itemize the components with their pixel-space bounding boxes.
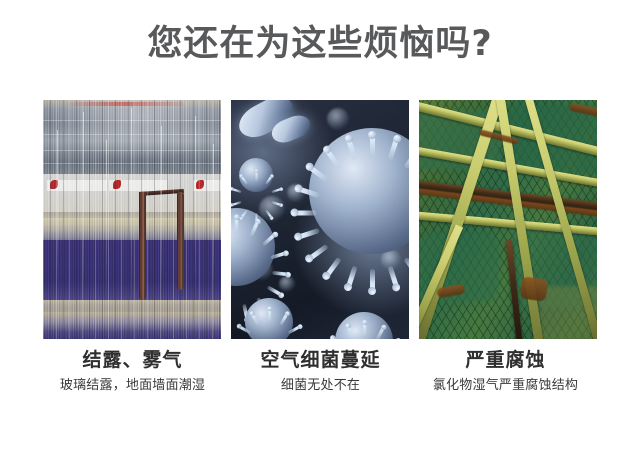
panel-bacteria bbox=[231, 100, 409, 339]
water-drip bbox=[161, 126, 162, 296]
caption-subtitle: 玻璃结露，地面墙面潮湿 bbox=[25, 377, 240, 394]
caption-title: 严重腐蚀 bbox=[398, 348, 613, 372]
water-drip bbox=[106, 140, 107, 300]
caption-title: 空气细菌蔓延 bbox=[213, 348, 428, 372]
photo-vignette bbox=[419, 100, 597, 339]
water-drip bbox=[131, 108, 132, 308]
bacteria-photo bbox=[231, 100, 409, 339]
caption-subtitle: 细菌无处不在 bbox=[213, 377, 428, 394]
condensation-photo bbox=[43, 100, 221, 339]
caption-condensation: 结露、雾气 玻璃结露，地面墙面潮湿 bbox=[25, 348, 240, 394]
panel-corrosion bbox=[419, 100, 597, 339]
caption-bacteria: 空气细菌蔓延 细菌无处不在 bbox=[213, 348, 428, 394]
water-drip bbox=[195, 116, 196, 306]
panel-captions: 结露、雾气 玻璃结露，地面墙面潮湿 空气细菌蔓延 细菌无处不在 严重腐蚀 氯化物… bbox=[0, 348, 640, 408]
caption-subtitle: 氯化物湿气严重腐蚀结构 bbox=[398, 377, 613, 394]
problem-panels bbox=[43, 100, 597, 339]
corrosion-photo bbox=[419, 100, 597, 339]
water-drip bbox=[57, 130, 58, 280]
water-drip bbox=[83, 112, 84, 292]
photo-vignette bbox=[231, 100, 409, 339]
page-title: 您还在为这些烦恼吗? bbox=[0, 22, 640, 66]
caption-title: 结露、雾气 bbox=[25, 348, 240, 372]
water-drip bbox=[213, 144, 214, 294]
panel-condensation bbox=[43, 100, 221, 339]
caption-corrosion: 严重腐蚀 氯化物湿气严重腐蚀结构 bbox=[398, 348, 613, 394]
promo-page: 您还在为这些烦恼吗? bbox=[0, 0, 640, 471]
